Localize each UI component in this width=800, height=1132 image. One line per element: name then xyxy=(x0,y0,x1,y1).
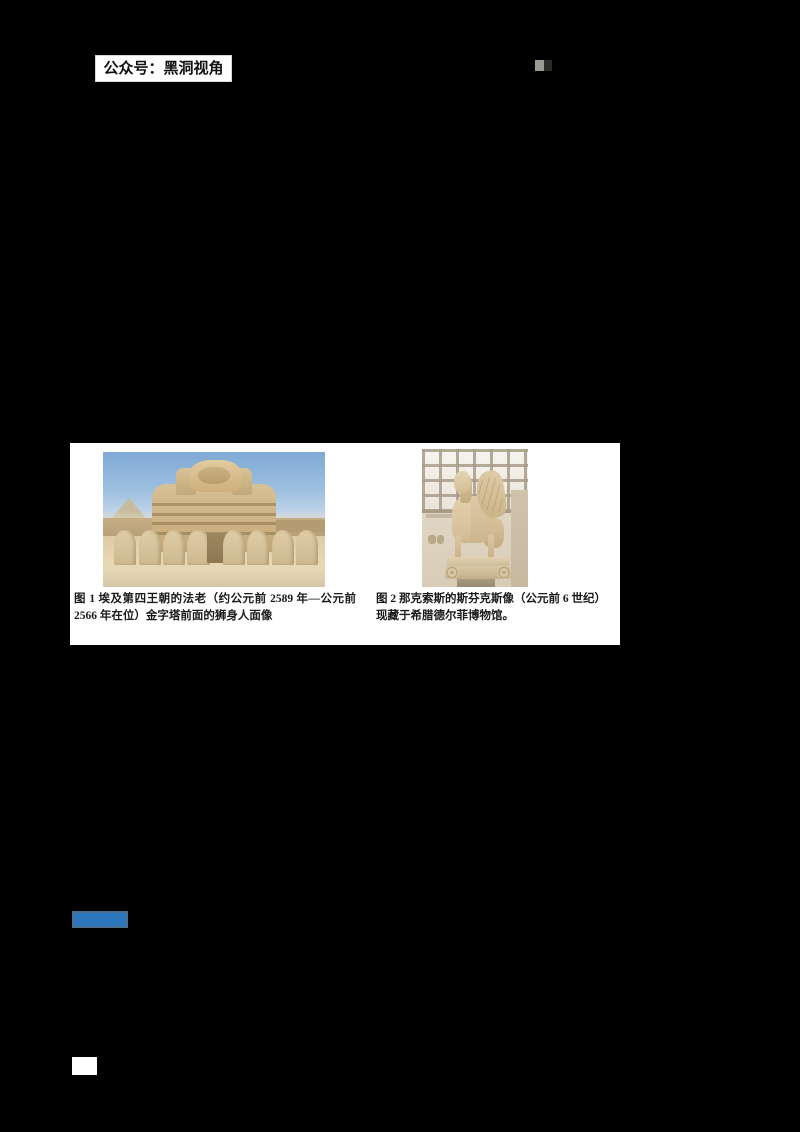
page-number-block xyxy=(72,1057,97,1075)
body-stone-band xyxy=(152,513,276,516)
body-stone-band xyxy=(152,522,276,525)
figure-row: 图 1 埃及第四王朝的法老（约公元前 2589 年—公元前 2566 年在位）金… xyxy=(70,443,620,645)
figure-panel: 图 1 埃及第四王朝的法老（约公元前 2589 年—公元前 2566 年在位）金… xyxy=(70,443,620,645)
ionic-volute-right xyxy=(497,566,511,578)
naxian-sphinx-photo xyxy=(422,449,528,587)
sphinx-paw xyxy=(114,530,136,565)
highlighted-text-block xyxy=(72,911,128,928)
sphinx-paw xyxy=(296,530,318,565)
pedestal-base xyxy=(457,579,495,587)
figure-1-caption: 图 1 埃及第四王朝的法老（约公元前 2589 年—公元前 2566 年在位）金… xyxy=(74,591,356,625)
sphinx-face xyxy=(198,467,229,485)
great-sphinx-of-giza-photo xyxy=(103,452,325,587)
foreground-shadow xyxy=(103,568,325,587)
figure-1: 图 1 埃及第四王朝的法老（约公元前 2589 年—公元前 2566 年在位）金… xyxy=(70,443,360,625)
figure-2-image xyxy=(422,449,528,587)
sphinx-paw xyxy=(163,530,185,565)
header-obscured-segment-right xyxy=(544,60,552,71)
document-page: 公众号：黑洞视角 xyxy=(0,0,800,1132)
header-obscured-text xyxy=(535,60,552,71)
ionic-volute-left xyxy=(445,566,459,578)
display-artifact xyxy=(428,535,435,545)
body-stone-band xyxy=(152,503,276,506)
sphinx-chest xyxy=(452,499,471,540)
sphinx-paw xyxy=(272,530,294,565)
side-wall xyxy=(511,490,528,587)
sphinx-paw xyxy=(247,530,269,565)
watermark-box: 公众号：黑洞视角 xyxy=(95,55,232,82)
statue-plinth xyxy=(447,557,508,567)
figure-1-image xyxy=(103,452,325,587)
sphinx-head xyxy=(454,471,470,493)
figure-2: 图 2 那克索斯的斯芬克斯像（公元前 6 世纪）现藏于希腊德尔菲博物馆。 xyxy=(366,443,620,625)
sphinx-paw xyxy=(223,530,245,565)
header-obscured-segment-left xyxy=(535,60,544,71)
sphinx-paw xyxy=(139,530,161,565)
sphinx-paw xyxy=(187,530,209,565)
figure-2-caption: 图 2 那克索斯的斯芬克斯像（公元前 6 世纪）现藏于希腊德尔菲博物馆。 xyxy=(376,591,614,625)
display-artifact xyxy=(437,535,444,545)
watermark-label: 公众号：黑洞视角 xyxy=(103,61,223,76)
